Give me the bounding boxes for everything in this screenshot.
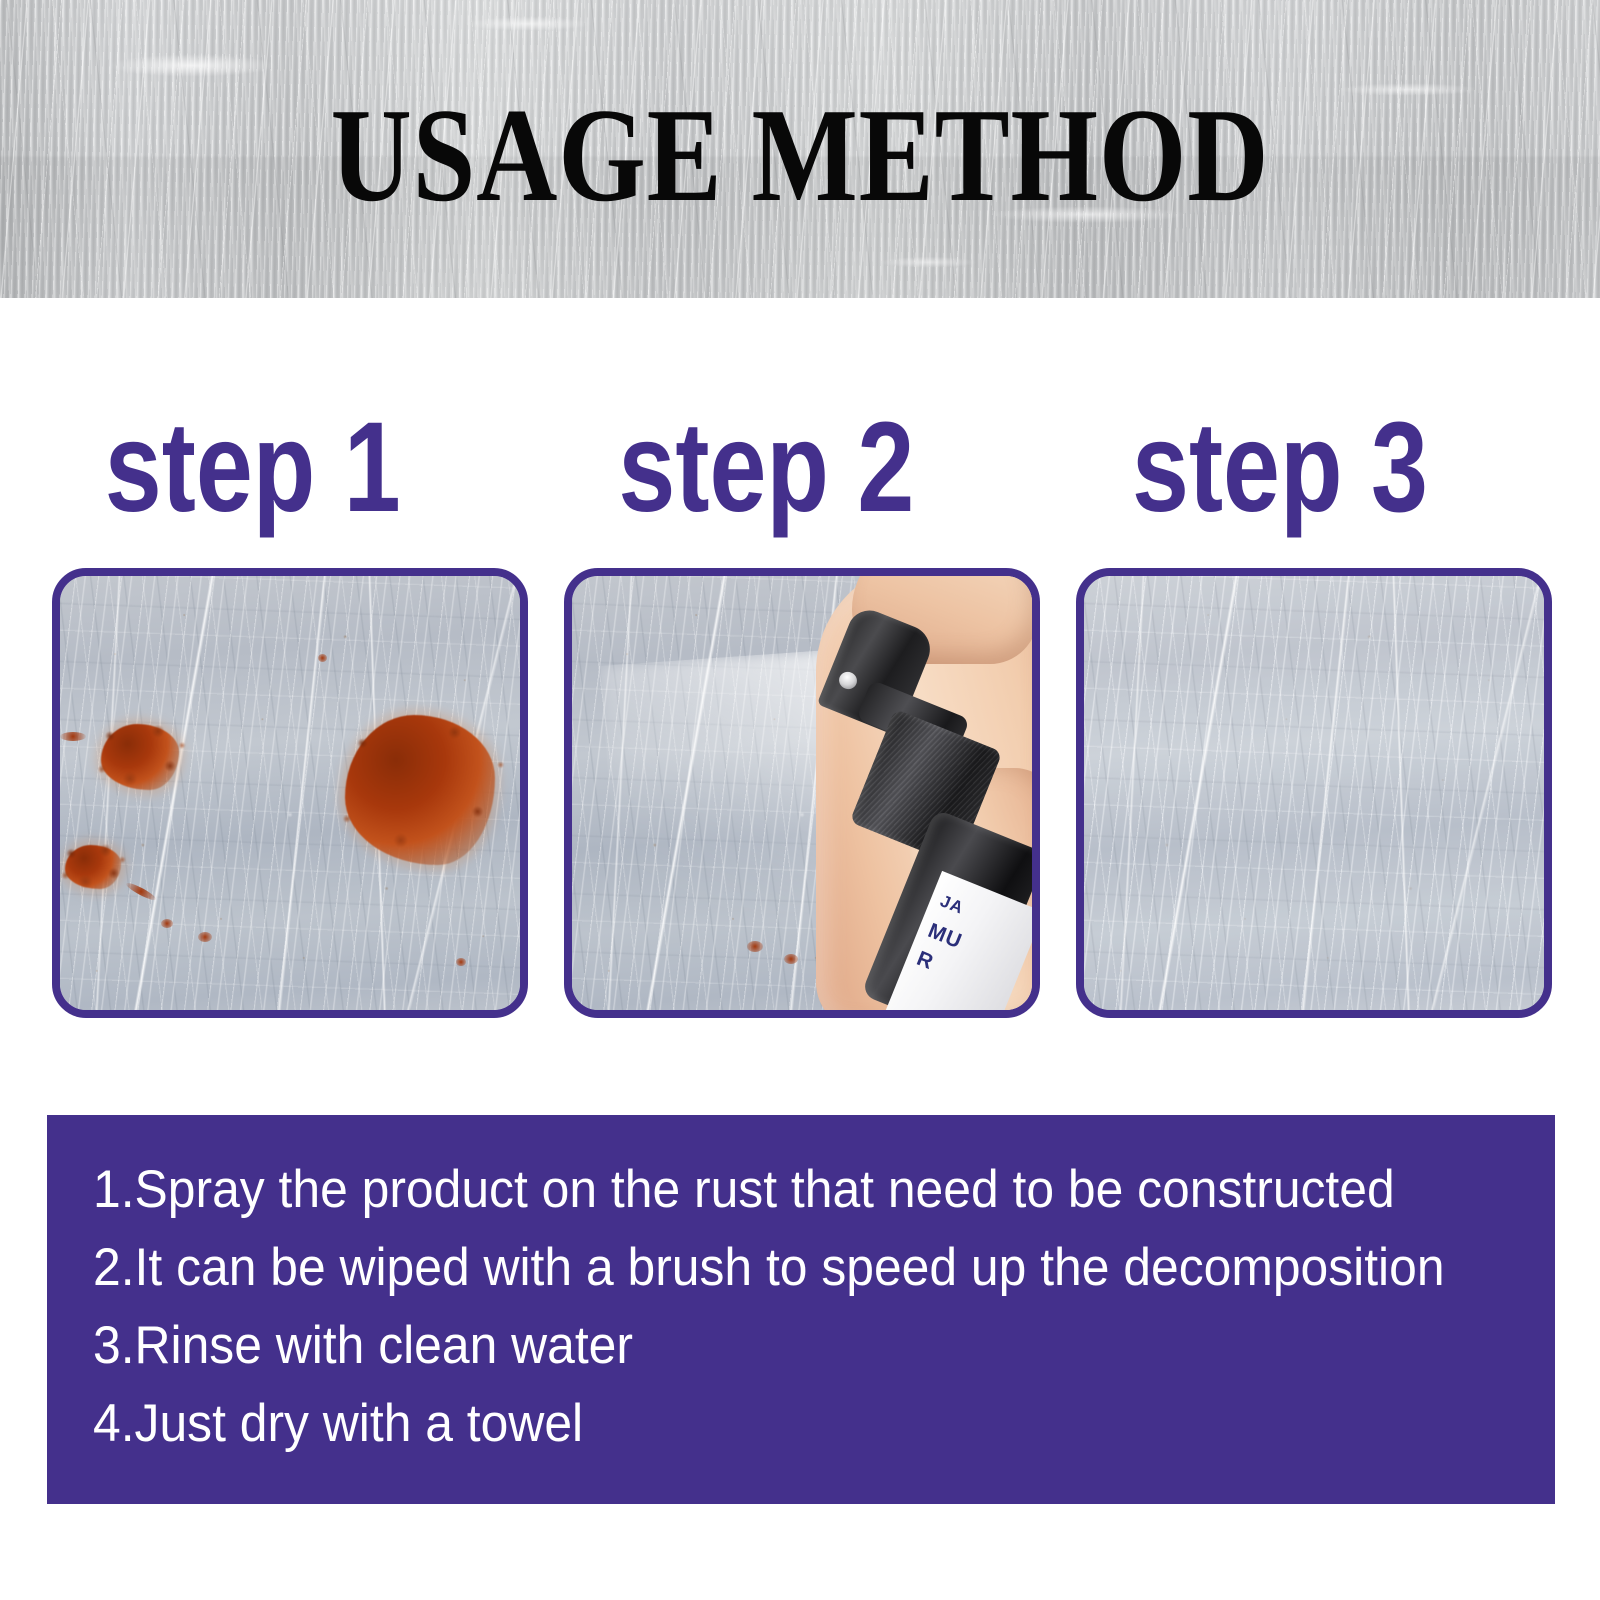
page-title: USAGE METHOD bbox=[128, 88, 1472, 222]
step-2-label: step 2 bbox=[564, 404, 945, 554]
rust-speck bbox=[198, 932, 212, 942]
step-1-label: step 1 bbox=[52, 404, 433, 554]
instruction-line-4: 4.Just dry with a towel bbox=[93, 1397, 1424, 1475]
rust-speck bbox=[747, 941, 763, 952]
bottle-label-line-3: R bbox=[913, 947, 937, 975]
rust-speck bbox=[784, 954, 798, 964]
rust-spot-medium bbox=[101, 724, 179, 790]
step-3-label: step 3 bbox=[1076, 404, 1457, 554]
rust-speck bbox=[318, 654, 327, 662]
metal-scratch-highlights bbox=[1084, 576, 1544, 1010]
step-2-photo-frame: JA MU R bbox=[564, 568, 1040, 1018]
spray-bottle: JA MU R bbox=[826, 594, 988, 994]
step-1-photo bbox=[60, 576, 520, 1010]
step-2-photo: JA MU R bbox=[572, 576, 1032, 1010]
rust-spot-large bbox=[345, 715, 495, 865]
step-3-photo bbox=[1084, 576, 1544, 1010]
step-3-column: step 3 bbox=[1076, 404, 1552, 1019]
instruction-line-1: 1.Spray the product on the rust that nee… bbox=[93, 1163, 1424, 1241]
bottle-label-line-1: JA bbox=[937, 891, 966, 918]
step-3-photo-frame bbox=[1076, 568, 1552, 1018]
bottle-label-line-2: MU bbox=[924, 919, 965, 954]
step-1-column: step 1 bbox=[52, 404, 528, 1019]
rust-speck bbox=[456, 958, 466, 966]
rust-spot-small bbox=[65, 845, 121, 889]
rust-speck bbox=[161, 919, 173, 928]
step-2-column: step 2 bbox=[564, 404, 1040, 1019]
steps-row: step 1 step 2 bbox=[52, 404, 1552, 1019]
instructions-box: 1.Spray the product on the rust that nee… bbox=[47, 1115, 1555, 1504]
instruction-line-3: 3.Rinse with clean water bbox=[93, 1319, 1424, 1397]
step-1-photo-frame bbox=[52, 568, 528, 1018]
instruction-line-2: 2.It can be wiped with a brush to speed … bbox=[93, 1241, 1424, 1319]
